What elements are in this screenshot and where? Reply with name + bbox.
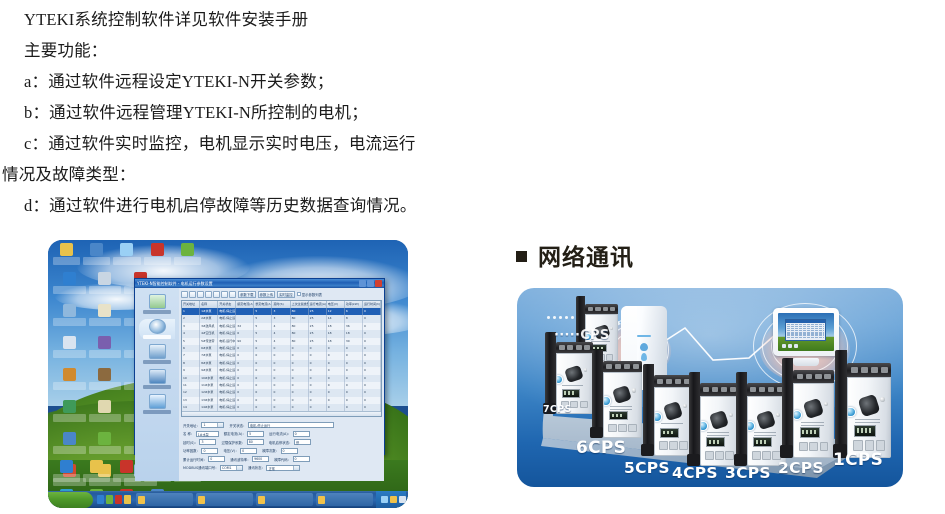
quick-launch-icon[interactable] [106,495,113,504]
sidebar-item-user-manage[interactable] [139,394,175,414]
cell: 30 [345,338,363,345]
desktop-icon[interactable] [112,241,141,272]
cell: 0 [309,382,327,389]
desktop-icon[interactable] [143,241,172,272]
start-button[interactable] [48,492,93,508]
cell: 0 [327,352,345,359]
cell: 8 [182,360,200,367]
desktop-icon[interactable] [52,270,87,301]
cps-device-5[interactable] [643,364,693,456]
grid-column-header[interactable]: 延时(S) [272,301,290,308]
cell: 14 [327,315,345,322]
button-row[interactable] [752,451,780,460]
field-value[interactable]: 0 [293,431,310,437]
cell: 80 [291,330,309,337]
param-form: 开关地址： 1 开关状态： 电机-停止运行 名 称： 1#水泵 [181,419,382,479]
cell: 8#水泵 [200,360,218,367]
desktop-icon[interactable] [52,334,87,365]
cell: 电机-停止运行 [218,360,236,367]
button-row[interactable] [799,442,828,451]
field-value[interactable]: 9600 [252,456,269,462]
rotary-knob[interactable] [805,400,822,417]
cell: 电机-停止运行 [218,308,236,315]
cell: 0 [254,397,272,404]
cell: 6 [182,345,200,352]
cell: 12 [327,308,345,315]
indicator-dot [683,404,687,408]
params-data-grid[interactable]: 开关地址 名称 开关状态 额定电流(A) 整定电流(A) 延时(S) 上次过载类… [181,300,382,417]
minimize-button[interactable] [359,280,366,287]
table-row[interactable]: 1 1#水泵 电机-停止运行 5 3 80 25 12 6 0 [182,308,381,315]
desktop-icon[interactable] [88,398,123,429]
din-rail-bracket [689,372,700,466]
cell: 80 [291,338,309,345]
cell: 4#空压机 [200,330,218,337]
device-shell [603,372,642,438]
field-value[interactable]: 0 [281,448,298,454]
cell: 0 [309,360,327,367]
cell: 0 [272,382,290,389]
field-overload-coeff[interactable]: 过载保护系数： 80 [221,439,263,445]
cell: 电机-停止运行 [218,323,236,330]
cell: 4 [182,330,200,337]
field-label: 通讯状态： [248,465,265,470]
cell: 25 [309,338,327,345]
label-text-lines [801,422,824,426]
cell: 3 [182,323,200,330]
application-window[interactable]: YTEKI-N智能控制软件 - 电机运行参数设置 [134,278,385,455]
horizontal-scrollbar[interactable] [182,411,381,416]
rotary-knob[interactable] [566,367,582,381]
checkbox-label: 显示参数列表 [302,292,322,297]
field-label: 电机启停状态： [269,440,293,445]
sidebar-item-system-settings[interactable] [139,294,175,314]
grid-body: 1 1#水泵 电机-停止运行 5 3 80 25 12 6 0 [182,308,381,411]
monitor-icon [149,294,166,309]
cell: 0 [272,360,290,367]
download-params-button[interactable]: 参数下载 [238,291,256,298]
cell: 2#水泵 [200,315,218,322]
desktop-icon[interactable] [52,241,81,272]
cell: 0 [236,345,254,352]
section-heading: 网络通讯 [516,238,634,272]
sidebar-item-history-query[interactable] [139,369,175,389]
upload-params-button[interactable]: 参数上传 [258,291,276,298]
cell: 电机-停止运行 [218,404,236,411]
grid-column-header[interactable]: 开关地址 [182,301,200,308]
field-run-current[interactable]: 运行电流(A)： 0 [269,431,309,437]
brand-badge-icon [847,407,856,418]
desktop-icon[interactable] [52,366,87,397]
desktop-icon[interactable] [173,241,202,272]
table-row[interactable]: 2 2#水泵 电机-停止运行 5 3 80 25 14 8 0 [182,315,381,322]
field-name[interactable]: 名 称： 1#水泵 [183,431,219,437]
desktop-icon[interactable] [82,241,111,272]
cell: 0 [363,404,381,411]
system-tray[interactable] [376,491,406,508]
cell: 0 [291,404,309,411]
cell: 11 [182,382,200,389]
taskbar-item[interactable] [256,493,313,506]
field-delay[interactable]: 延时(S)： 3 [183,439,216,445]
desktop-icon[interactable] [88,334,123,365]
field-value[interactable]: 0 [208,456,225,462]
mini-desktop-icons [782,344,798,348]
button-row[interactable] [659,441,687,450]
cell: 0 [309,397,327,404]
doc-line: a：通过软件远程设定YTEKI-N开关参数； [24,66,474,97]
cps-device-4[interactable] [689,372,739,466]
doc-line-wrap: 情况及故障类型： [2,159,474,190]
cell: 电机-停止运行 [218,367,236,374]
brand-badge-icon [654,412,662,422]
brand-badge-icon [603,396,611,406]
field-fault-code[interactable]: 故障代码： 0 [274,456,309,462]
window-title-text: YTEKI-N智能控制软件 - 电机运行参数设置 [137,281,359,287]
cell: 4 [272,330,290,337]
terminal-cap [747,383,786,395]
field-value[interactable]: 1 [201,422,224,428]
first-record-button[interactable] [181,291,188,298]
app-toolbar: 参数下载 参数上传 实时监控 显示参数列表 [181,290,382,298]
cell: 0 [291,397,309,404]
cell: 0 [327,360,345,367]
din-rail-bracket [643,364,654,456]
table-row[interactable]: 7 7#水泵 电机-停止运行 0 0 0 0 0 0 0 0 [182,352,381,359]
field-label: 开关地址： [183,423,200,428]
din-rail-bracket [545,332,556,414]
field-value[interactable]: 电机-停止运行 [248,422,334,428]
table-row[interactable]: 8 8#水泵 电机-停止运行 0 0 0 0 0 0 0 0 [182,360,381,367]
cell: 12 [182,389,200,396]
device-shell [847,377,891,458]
cell: 0 [327,404,345,411]
device-body [847,363,891,458]
terminal-cap [700,383,739,395]
last-record-button[interactable] [205,291,212,298]
cell: 6 [345,308,363,315]
cps-device-3[interactable] [736,372,786,466]
field-fault-count[interactable]: 故障次数： 0 [262,448,297,454]
close-button[interactable] [375,280,382,287]
cell: 32 [236,323,254,330]
table-row[interactable]: 6 6#水泵 电机-停止运行 0 0 0 0 0 0 0 0 [182,345,381,352]
button-row[interactable] [608,424,636,432]
cps-device-7[interactable] [545,332,593,414]
cell: 电机-停止运行 [218,315,236,322]
button-row[interactable] [705,451,733,460]
table-row[interactable]: 4 4#空压机 电机-停止运行 6 5 4 80 25 18 18 0 [182,330,381,337]
cell: 10#水泵 [200,375,218,382]
cell: 0 [327,389,345,396]
desktop-icon[interactable] [52,302,87,333]
quick-launch-icon[interactable] [115,495,122,504]
form-row: 累计运行时间： 0 通讯波特率： 9600 故障代码： 0 [183,456,380,462]
cell: 0 [291,352,309,359]
cell: 0 [236,352,254,359]
cps-device-6[interactable] [592,350,642,438]
cell: 5 [254,323,272,330]
grid-column-header[interactable]: 上次过载类型 [291,301,309,308]
next-record-button[interactable] [197,291,204,298]
cell: 0 [236,382,254,389]
lcd-display [753,437,772,447]
monitor-bezel [773,308,839,356]
cell: 电机-停止运行 [218,345,236,352]
realtime-monitor-button[interactable]: 实时监控 [277,291,295,298]
cell: 5 [254,330,272,337]
field-label: 过载保护系数： [221,440,245,445]
desktop-icon[interactable] [52,398,87,429]
cell: 0 [272,367,290,374]
grid-column-header[interactable]: 名称 [200,301,218,308]
indicator-dot [584,368,588,372]
din-rail-bracket [835,350,847,458]
record-nav-buttons[interactable] [181,291,236,298]
app-sidebar [135,288,179,481]
field-label: 电压(V)： [223,448,238,453]
grid-column-header[interactable]: 运行时间(h) [363,301,381,308]
lcd-display [800,427,820,438]
desktop-icon-row-top [52,241,202,271]
confirm-record-button[interactable] [221,291,228,298]
device-shell [654,387,693,456]
cell: 电机-停止运行 [218,382,236,389]
field-value[interactable]: 80 [247,439,264,445]
form-row: 延时(S)： 3 过载保护系数： 80 电机启停状态： 停 [183,439,380,445]
field-label: 累计运行时间： [183,457,207,462]
desktop-icon[interactable] [82,458,111,486]
rotary-knob[interactable] [711,412,727,428]
field-baud-rate[interactable]: 通讯波特率： 9600 [230,456,269,462]
sidebar-item-comm-params[interactable] [139,319,175,339]
cell: 5 [254,338,272,345]
ellipsis-dots-icon [547,316,574,319]
device-body [603,361,642,438]
field-label: 故障代码： [274,457,291,462]
field-value[interactable]: 3 [199,439,216,445]
cell: 0 [363,360,381,367]
cell: 0 [236,404,254,411]
cps-label-1: 1CPS [833,450,883,470]
cell: 0 [363,308,381,315]
windows-taskbar[interactable] [48,491,408,508]
cell: 0 [254,345,272,352]
delete-record-button[interactable] [213,291,220,298]
table-row[interactable]: 9 9#水泵 电机-停止运行 0 0 0 0 0 0 0 0 [182,367,381,374]
brand-badge-icon [700,421,708,431]
desktop-icon[interactable] [52,430,87,461]
lcd-display [609,411,628,421]
cell: 18 [345,330,363,337]
label-text-lines [855,419,880,423]
field-value[interactable]: 5 [247,431,264,437]
desktop-icon[interactable] [88,302,123,333]
field-label: 延时(S)： [183,440,198,445]
indicator-dot [632,388,636,392]
lcd-display [660,428,679,438]
square-bullet-icon [516,251,527,262]
cell: 0 [309,345,327,352]
cell: 0 [254,404,272,411]
cell: 0 [272,345,290,352]
chart-icon [149,344,166,359]
table-row[interactable]: 14 14#水泵 电机-停止运行 0 0 0 0 0 0 0 0 [182,404,381,411]
field-value[interactable]: 0 [293,456,310,462]
field-value[interactable]: 1#水泵 [196,431,219,437]
terminal-cap [847,363,891,377]
device-body [654,375,693,456]
label-text-lines [754,432,776,435]
prev-record-button[interactable] [189,291,196,298]
table-row[interactable]: 13 13#水泵 电机-停止运行 0 0 0 0 0 0 0 0 [182,397,381,404]
desktop-icon[interactable] [88,366,123,397]
cell: 0 [345,375,363,382]
cell: 0 [363,330,381,337]
form-row: 名 称： 1#水泵 额定电流(A)： 5 运行电流(A)： 0 [183,431,380,437]
field-label: MODBUS通讯端口号： [183,465,219,470]
rotary-knob[interactable] [614,387,630,402]
cps-device-2[interactable] [782,358,834,458]
tray-icon[interactable] [381,496,388,503]
table-row[interactable]: 11 11#水泵 电机-停止运行 0 0 0 0 0 0 0 0 [182,382,381,389]
tray-icon[interactable] [399,496,406,503]
cell: 电机-停止运行 [218,375,236,382]
quick-launch-icon[interactable] [97,495,104,504]
cell: 80 [291,315,309,322]
field-label: 功率因数： [183,448,200,453]
cell: 4 [272,323,290,330]
network-topology-diagram: ·····CPS 7CPS 6CPS 5CPS 4CPS 3CPS 2CPS 1… [517,288,903,487]
device-shell [793,383,834,458]
cell: 0 [254,382,272,389]
label-text-lines [661,423,683,426]
field-label: 额定电流(A)： [224,431,246,436]
checkbox-box[interactable] [297,292,301,296]
cell: 6#水泵 [200,345,218,352]
field-label: 故障次数： [262,448,279,453]
indicator-dot [880,397,885,402]
cell: 0 [254,367,272,374]
field-value[interactable]: 正常 [266,465,300,471]
cell: 6 [236,330,254,337]
doc-line: 主要功能： [24,35,474,66]
cell: 电机-停止运行 [218,397,236,404]
taskbar-item[interactable] [316,493,373,506]
field-power-factor[interactable]: 功率因数： 0 [183,448,218,454]
cell: 0 [272,352,290,359]
cell [236,315,254,322]
taskbar-item[interactable] [136,493,193,506]
grid-column-header[interactable]: 功率(kW) [345,301,363,308]
field-value[interactable]: 0 [201,448,218,454]
indicator-dot [776,413,780,417]
doc-line: YTEKI系统控制软件详见软件安装手册 [24,4,474,35]
cps-label-6: 6CPS [576,438,626,458]
cell: 1#水泵 [200,308,218,315]
taskbar-item[interactable] [196,493,253,506]
desktop-icon[interactable] [52,458,81,486]
tray-icon[interactable] [390,496,397,503]
show-param-list-checkbox[interactable]: 显示参数列表 [297,292,322,297]
label-text-lines [562,385,583,388]
field-switch-address[interactable]: 开关地址： 1 [183,422,224,428]
window-controls[interactable] [359,280,382,287]
cell: 80 [291,308,309,315]
grid-column-header[interactable]: 额定电流(A) [236,301,254,308]
grid-column-header[interactable]: 运行电流(A) [309,301,327,308]
label-text-lines [610,406,632,409]
brand-badge-icon [556,375,564,384]
doc-line: b：通过软件远程管理YTEKI-N所控制的电机； [24,97,474,128]
rotary-knob[interactable] [758,412,774,428]
cell: 0 [254,360,272,367]
cell: 0 [309,404,327,411]
cell: 25 [309,330,327,337]
cell: 0 [291,360,309,367]
field-modbus-port[interactable]: MODBUS通讯端口号： COM1 [183,465,243,471]
field-switch-state[interactable]: 开关状态： 电机-停止运行 [229,422,333,428]
cell: 90 [236,338,254,345]
rotary-knob[interactable] [860,396,878,415]
table-row[interactable]: 10 10#水泵 电机-停止运行 0 0 0 0 0 0 0 0 [182,375,381,382]
field-rated-current[interactable]: 额定电流(A)： 5 [224,431,264,437]
cell: 7 [182,352,200,359]
desktop-icon[interactable] [88,430,123,461]
field-value[interactable]: 0 [240,448,257,454]
table-row[interactable]: 3 3#鼓风机 电机-停止运行 32 5 4 80 25 18 36 0 [182,323,381,330]
field-total-runtime[interactable]: 累计运行时间： 0 [183,456,225,462]
table-row[interactable]: 12 12#水泵 电机-停止运行 0 0 0 0 0 0 0 0 [182,389,381,396]
desktop-icon[interactable] [88,270,123,301]
cell [236,308,254,315]
quick-launch-icon[interactable] [124,495,131,504]
maximize-button[interactable] [367,280,374,287]
sidebar-item-monitor-chart[interactable] [139,344,175,364]
cell: 0 [327,382,345,389]
rotary-knob[interactable] [665,403,681,419]
refresh-button[interactable] [229,291,236,298]
field-label: 名 称： [183,431,194,436]
cell: 8 [345,315,363,322]
cell: 电机-运行中 [218,338,236,345]
grid-column-header[interactable]: 整定电流(A) [254,301,272,308]
cell: 9#水泵 [200,367,218,374]
mini-app-window [785,319,826,341]
cps-label-2: 2CPS [778,459,824,477]
cps-label-4: 4CPS [672,464,718,482]
field-label: 开关状态： [229,423,246,428]
field-comm-state[interactable]: 通讯状态： 正常 [248,465,300,471]
cell: 0 [345,404,363,411]
cell: 0 [327,375,345,382]
quick-launch-bar[interactable] [97,495,131,504]
gateway-bar-icon [637,335,651,337]
cps-device-1[interactable] [835,350,891,458]
field-value[interactable]: 停 [294,439,311,445]
window-title-bar[interactable]: YTEKI-N智能控制软件 - 电机运行参数设置 [135,279,384,288]
table-row[interactable]: 5 5#传送带 电机-运行中 90 5 4 80 25 18 30 0 [182,338,381,345]
field-motor-state[interactable]: 电机启停状态： 停 [269,439,311,445]
cell: 12#水泵 [200,389,218,396]
field-value[interactable]: COM1 [220,465,243,471]
grid-column-header[interactable]: 开关状态 [218,301,236,308]
grid-column-header[interactable]: 电压(V) [327,301,345,308]
field-voltage[interactable]: 电压(V)： 0 [223,448,257,454]
cell: 5 [182,338,200,345]
cell: 0 [363,338,381,345]
form-row: 功率因数： 0 电压(V)： 0 故障次数： 0 [183,448,380,454]
